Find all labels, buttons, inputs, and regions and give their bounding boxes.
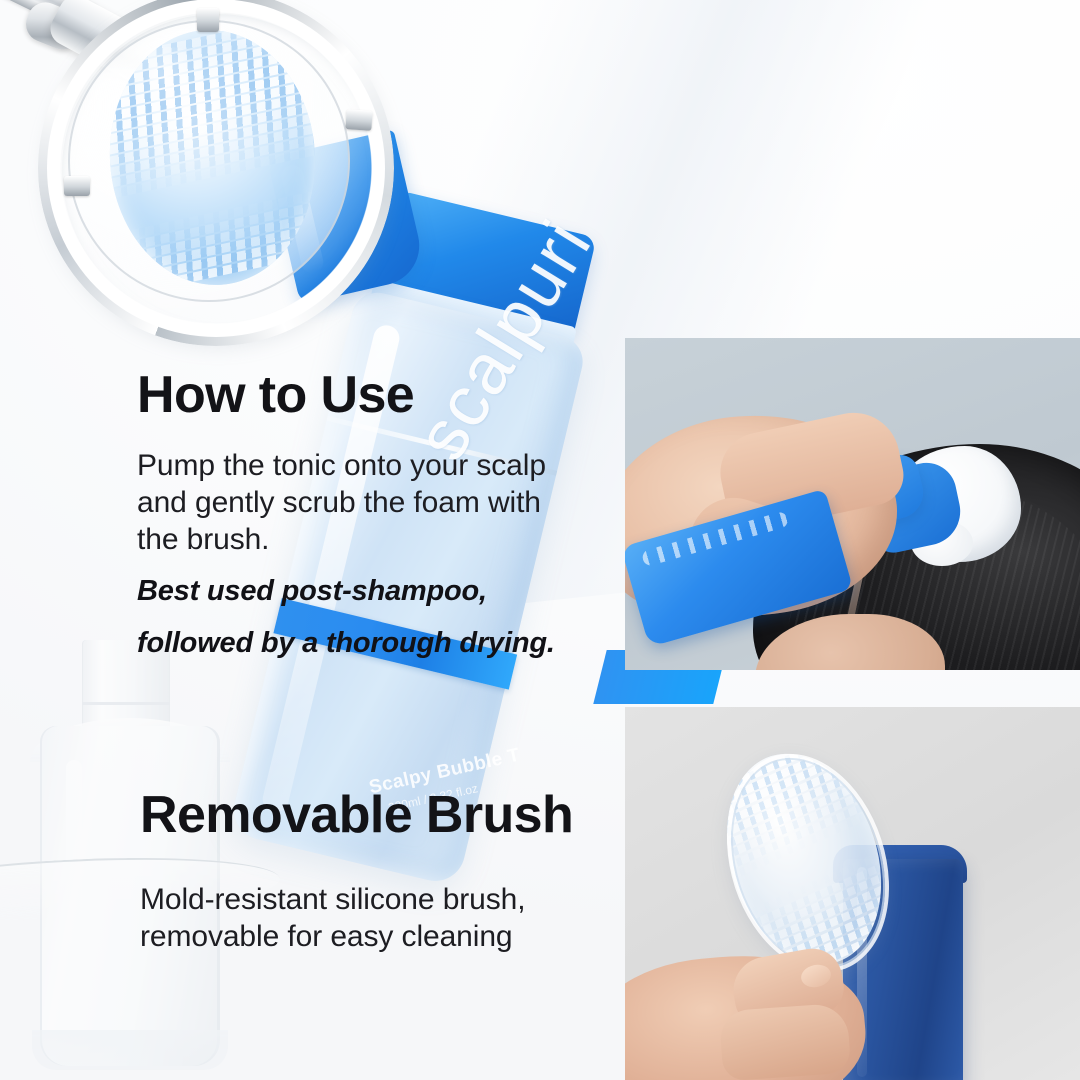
photo-removable-brush	[625, 707, 1080, 1080]
brush-bristle-disc	[101, 23, 323, 292]
how-to-use-body-line-1: Pump the tonic onto your scalp	[137, 447, 607, 484]
removable-brush-body-line-2: removable for easy cleaning	[140, 918, 620, 955]
photo-apply-to-scalp	[625, 338, 1080, 670]
how-to-use-body-line-3: the brush.	[137, 521, 607, 558]
how-to-use-emphasis-line-1: Best used post-shampoo,	[137, 572, 607, 610]
brush-photo-finger-lower	[719, 1003, 852, 1080]
removable-brush-heading: Removable Brush	[140, 788, 620, 843]
removable-brush-body-line-1: Mold-resistant silicone brush,	[140, 881, 620, 918]
glass-bottle-base	[32, 1030, 228, 1070]
brush-clip-tab-right	[345, 109, 372, 131]
how-to-use-heading: How to Use	[137, 368, 607, 423]
brush-clip-tab-top	[197, 8, 219, 32]
marketing-canvas: scalpuri Scalpy Bubble T 200ml / 3.32 fl…	[0, 0, 1080, 1080]
removable-brush-section: Removable Brush Mold-resistant silicone …	[140, 788, 620, 955]
how-to-use-section: How to Use Pump the tonic onto your scal…	[137, 368, 607, 662]
brush-clip-tab-left	[64, 176, 90, 196]
how-to-use-emphasis-line-2: followed by a thorough drying.	[137, 624, 607, 662]
hero-brush-assembly	[0, 0, 452, 370]
how-to-use-body-line-2: and gently scrub the foam with	[137, 484, 607, 521]
